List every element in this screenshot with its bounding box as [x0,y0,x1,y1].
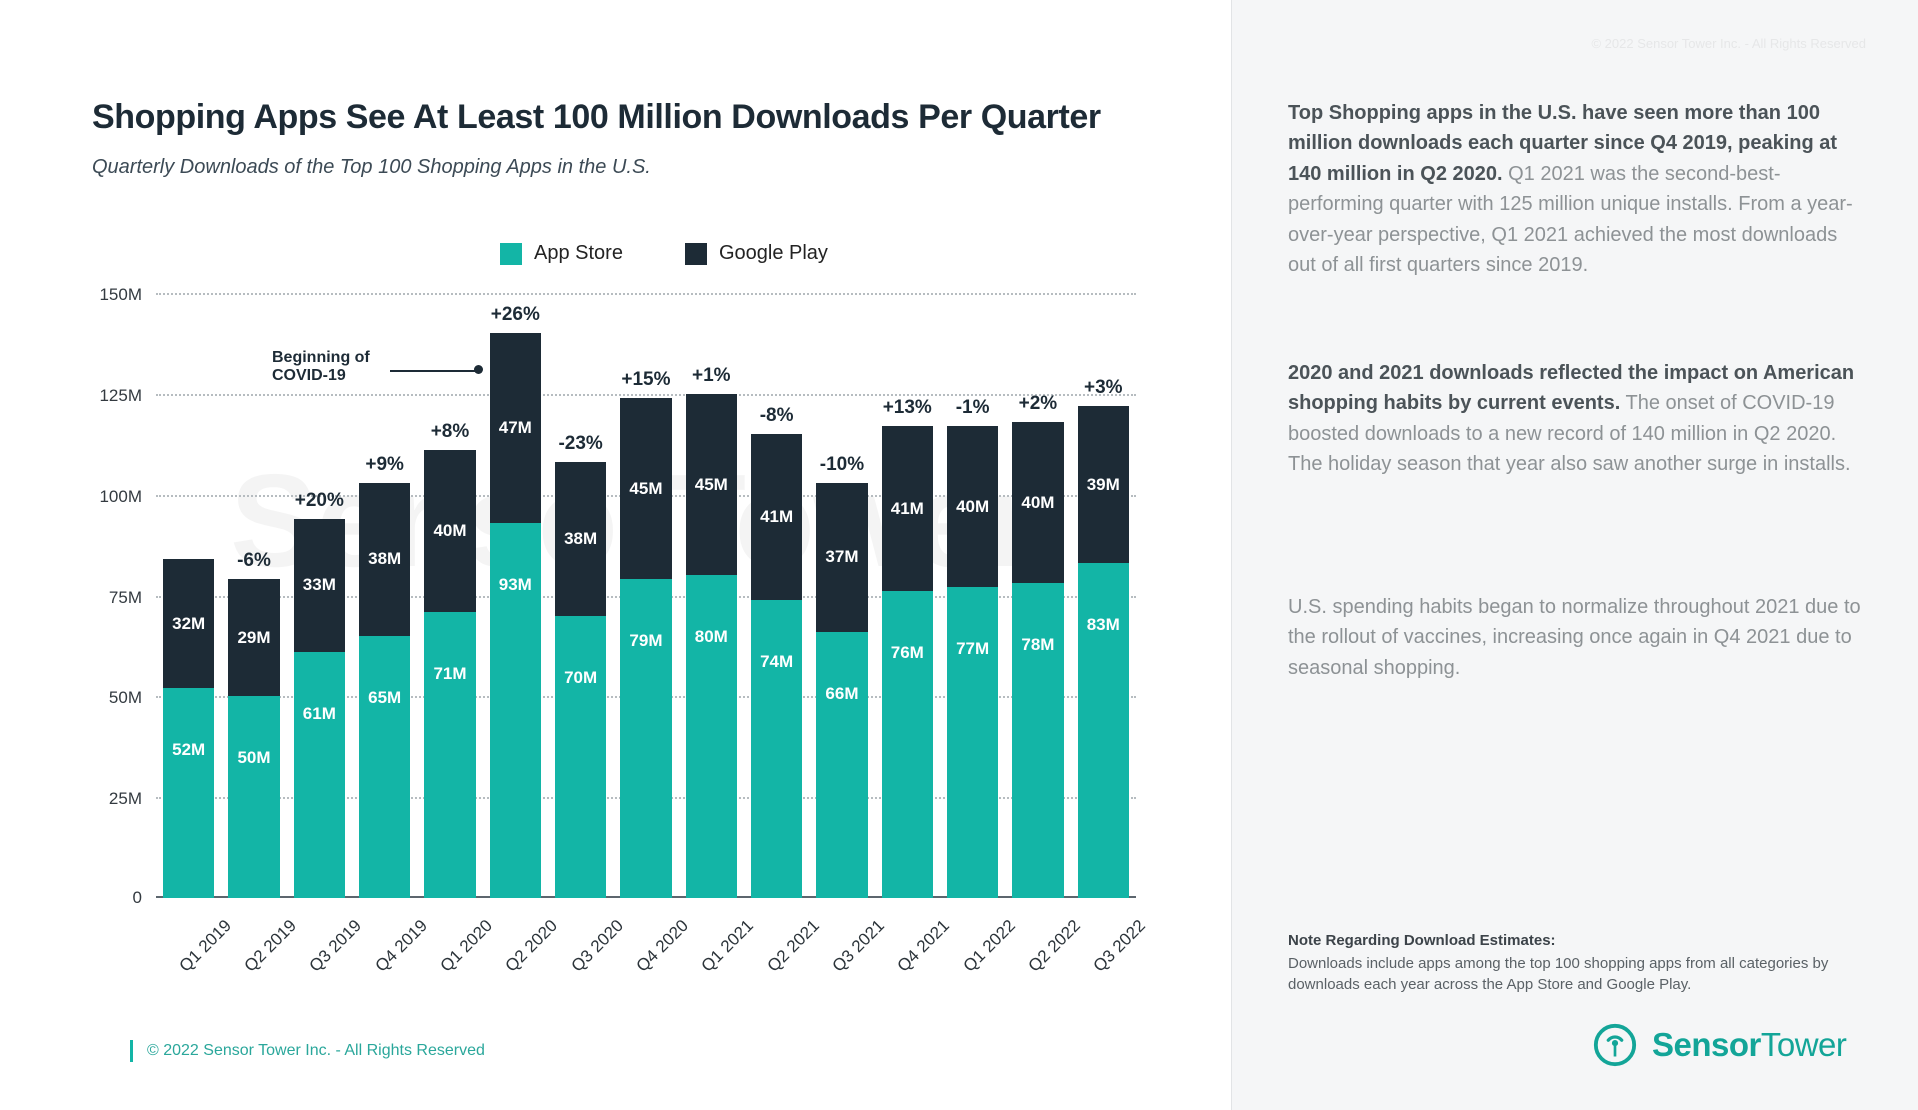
bar-segment-google-play[interactable]: 32M [163,559,214,688]
bar-segment-app-store[interactable]: 78M [1012,583,1063,898]
x-axis-tick-label: Q2 2022 [1024,916,1084,976]
bar-segment-label: 78M [1021,635,1054,655]
bar-segment-app-store[interactable]: 93M [490,523,541,898]
logo-text-bold: Sensor [1652,1026,1761,1063]
bar-segment-label: 45M [695,475,728,495]
bar-change-label: -23% [555,433,606,455]
bar-segment-label: 52M [172,740,205,760]
sensor-tower-logo-text: SensorTower [1652,1026,1846,1064]
bar-change-label: +9% [359,454,410,476]
bar-column[interactable]: -1%40M77MQ1 2022 [940,293,1005,898]
bar-stack[interactable]: +1%45M80M [686,394,737,898]
x-axis-tick-label: Q4 2020 [632,916,692,976]
bar-stack[interactable]: -8%41M74M [751,434,802,898]
page-subtitle: Quarterly Downloads of the Top 100 Shopp… [92,156,651,179]
bar-segment-label: 70M [564,668,597,688]
bar-segment-app-store[interactable]: 74M [751,600,802,898]
bar-segment-google-play[interactable]: 41M [751,434,802,599]
bar-segment-google-play[interactable]: 38M [555,462,606,615]
y-axis-tick-label: 25M [109,789,142,809]
note-body: Downloads include apps among the top 100… [1288,953,1878,996]
bar-stack[interactable]: +26%47M93M [490,333,541,898]
bar-change-label: +8% [424,421,475,443]
y-axis-tick-label: 125M [99,386,142,406]
bar-column[interactable]: +1%45M80MQ1 2021 [679,293,744,898]
commentary-paragraph-1: Top Shopping apps in the U.S. have seen … [1288,98,1870,280]
rights-notice-top: © 2022 Sensor Tower Inc. - All Rights Re… [1591,36,1866,51]
bar-segment-label: 32M [172,614,205,634]
legend-label-app-store: App Store [534,242,623,265]
bar-segment-label: 41M [891,499,924,519]
bar-segment-app-store[interactable]: 61M [294,652,345,898]
y-axis-tick-label: 50M [109,688,142,708]
y-axis-tick-label: 75M [109,588,142,608]
bar-segment-label: 50M [237,748,270,768]
bar-segment-google-play[interactable]: 45M [686,394,737,575]
bar-segment-google-play[interactable]: 38M [359,483,410,636]
bar-segment-app-store[interactable]: 76M [882,591,933,898]
bar-segment-label: 79M [629,631,662,651]
bar-column[interactable]: -10%37M66MQ3 2021 [809,293,874,898]
bar-change-label: +26% [490,304,541,326]
bar-stack[interactable]: +3%39M83M [1078,406,1129,898]
bar-change-label: +20% [294,490,345,512]
bar-segment-google-play[interactable]: 33M [294,519,345,652]
bar-change-label: +3% [1078,377,1129,399]
bar-change-label: +2% [1012,393,1063,415]
bar-change-label: -8% [751,405,802,427]
bar-segment-label: 76M [891,643,924,663]
x-axis-tick-label: Q1 2020 [436,916,496,976]
bar-stack[interactable]: +13%41M76M [882,426,933,898]
bar-segment-label: 66M [825,684,858,704]
bar-change-label: +15% [620,369,671,391]
y-axis-tick-label: 100M [99,487,142,507]
bar-segment-label: 33M [303,575,336,595]
legend-swatch-app-store [500,243,522,265]
chart-panel: Shopping Apps See At Least 100 Million D… [0,0,1232,1110]
note-title: Note Regarding Download Estimates: [1288,932,1878,949]
y-axis-tick-label: 150M [99,285,142,305]
x-axis-tick-label: Q2 2020 [502,916,562,976]
commentary-paragraph-3-rest: U.S. spending habits began to normalize … [1288,596,1861,679]
x-axis-tick-label: Q2 2019 [240,916,300,976]
x-axis-tick-label: Q3 2021 [828,916,888,976]
bar-change-label: +1% [686,365,737,387]
bar-segment-app-store[interactable]: 52M [163,688,214,898]
page-title: Shopping Apps See At Least 100 Million D… [92,98,1101,137]
bar-segment-google-play[interactable]: 40M [947,426,998,587]
bar-stack[interactable]: +20%33M61M [294,519,345,898]
bar-segment-label: 47M [499,418,532,438]
bar-segment-google-play[interactable]: 41M [882,426,933,591]
bar-segment-label: 40M [1021,493,1054,513]
bar-segment-app-store[interactable]: 50M [228,696,279,898]
x-axis-tick-label: Q1 2021 [698,916,758,976]
logo-text-light: Tower [1761,1026,1847,1063]
bar-segment-label: 83M [1087,615,1120,635]
bar-segment-app-store[interactable]: 83M [1078,563,1129,898]
chart-legend: App Store Google Play [500,242,828,265]
x-axis-tick-label: Q2 2021 [763,916,823,976]
bar-change-label: +13% [882,397,933,419]
bar-segment-google-play[interactable]: 45M [620,398,671,579]
bar-segment-label: 74M [760,652,793,672]
bar-segment-app-store[interactable]: 77M [947,587,998,898]
bar-segment-label: 71M [433,664,466,684]
legend-swatch-google-play [685,243,707,265]
bar-stack[interactable]: +8%40M71M [424,450,475,898]
bar-column[interactable]: +3%39M83MQ3 2022 [1071,293,1136,898]
bar-column[interactable]: -8%41M74MQ2 2021 [744,293,809,898]
legend-item-app-store: App Store [500,242,623,265]
bar-segment-app-store[interactable]: 80M [686,575,737,898]
bar-change-label: -1% [947,397,998,419]
footer-copyright-text: © 2022 Sensor Tower Inc. - All Rights Re… [147,1042,485,1060]
bar-column[interactable]: +8%40M71MQ1 2020 [417,293,482,898]
download-estimates-note: Note Regarding Download Estimates: Downl… [1288,932,1878,996]
bar-column[interactable]: +2%40M78MQ2 2022 [1005,293,1070,898]
bar-segment-app-store[interactable]: 70M [555,616,606,898]
legend-label-google-play: Google Play [719,242,828,265]
commentary-panel: © 2022 Sensor Tower Inc. - All Rights Re… [1232,0,1918,1110]
x-axis-tick-label: Q1 2019 [175,916,235,976]
x-axis-tick-label: Q3 2022 [1090,916,1150,976]
bar-stack[interactable]: +2%40M78M [1012,422,1063,898]
x-axis-tick-label: Q4 2019 [371,916,431,976]
bar-segment-label: 80M [695,627,728,647]
bar-column[interactable]: +15%45M79MQ4 2020 [613,293,678,898]
x-axis-tick-label: Q3 2020 [567,916,627,976]
plot-area: 025M50M75M100M125M150M 32M52MQ1 2019-6%2… [156,293,1136,898]
bar-segment-label: 38M [368,549,401,569]
bar-column[interactable]: +9%38M65MQ4 2019 [352,293,417,898]
bar-segment-google-play[interactable]: 47M [490,333,541,523]
commentary-paragraph-2: 2020 and 2021 downloads reflected the im… [1288,358,1870,480]
sensor-tower-logo: SensorTower [1592,1022,1846,1068]
bar-segment-label: 41M [760,507,793,527]
commentary-paragraph-3: U.S. spending habits began to normalize … [1288,592,1870,683]
bar-segment-app-store[interactable]: 71M [424,612,475,898]
bar-segment-google-play[interactable]: 40M [424,450,475,611]
bar-stack[interactable]: -23%38M70M [555,462,606,898]
bar-segment-label: 45M [629,479,662,499]
x-axis-tick-label: Q3 2019 [306,916,366,976]
bar-segment-label: 65M [368,688,401,708]
bar-segment-google-play[interactable]: 37M [816,483,867,632]
bar-column[interactable]: 32M52MQ1 2019 [156,293,221,898]
bar-segment-google-play[interactable]: 40M [1012,422,1063,583]
bar-column[interactable]: -6%29M50MQ2 2019 [221,293,286,898]
bar-segment-app-store[interactable]: 79M [620,579,671,898]
bar-segment-google-play[interactable]: 29M [228,579,279,696]
x-axis-tick-label: Q4 2021 [894,916,954,976]
bar-segment-google-play[interactable]: 39M [1078,406,1129,563]
bar-stack[interactable]: +15%45M79M [620,398,671,898]
sensor-tower-mark-icon [1592,1022,1638,1068]
bar-segment-label: 40M [956,497,989,517]
bar-segment-label: 38M [564,529,597,549]
bar-segment-app-store[interactable]: 65M [359,636,410,898]
bar-column[interactable]: +20%33M61MQ3 2019 [287,293,352,898]
y-axis-tick-label: 0 [133,888,142,908]
bar-segment-app-store[interactable]: 66M [816,632,867,898]
bar-segment-label: 29M [237,628,270,648]
bar-segment-label: 40M [433,521,466,541]
infographic-page: Shopping Apps See At Least 100 Million D… [0,0,1918,1110]
footer-accent-bar [130,1040,133,1062]
bar-stack[interactable]: -10%37M66M [816,483,867,898]
bar-segment-label: 93M [499,575,532,595]
bar-segment-label: 39M [1087,475,1120,495]
bar-column[interactable]: -23%38M70MQ3 2020 [548,293,613,898]
bar-stack[interactable]: -6%29M50M [228,579,279,898]
bar-stack[interactable]: +9%38M65M [359,483,410,898]
bar-column[interactable]: +13%41M76MQ4 2021 [875,293,940,898]
bar-segment-label: 77M [956,639,989,659]
bar-segment-label: 37M [825,547,858,567]
bar-stack[interactable]: -1%40M77M [947,426,998,898]
bar-stack[interactable]: 32M52M [163,559,214,898]
bar-change-label: -10% [816,454,867,476]
bar-series-container: 32M52MQ1 2019-6%29M50MQ2 2019+20%33M61MQ… [156,293,1136,898]
bar-column[interactable]: +26%47M93MQ2 2020 [483,293,548,898]
footer-copyright: © 2022 Sensor Tower Inc. - All Rights Re… [130,1040,485,1062]
bar-change-label: -6% [228,550,279,572]
legend-item-google-play: Google Play [685,242,828,265]
x-axis-tick-label: Q1 2022 [959,916,1019,976]
bar-segment-label: 61M [303,704,336,724]
